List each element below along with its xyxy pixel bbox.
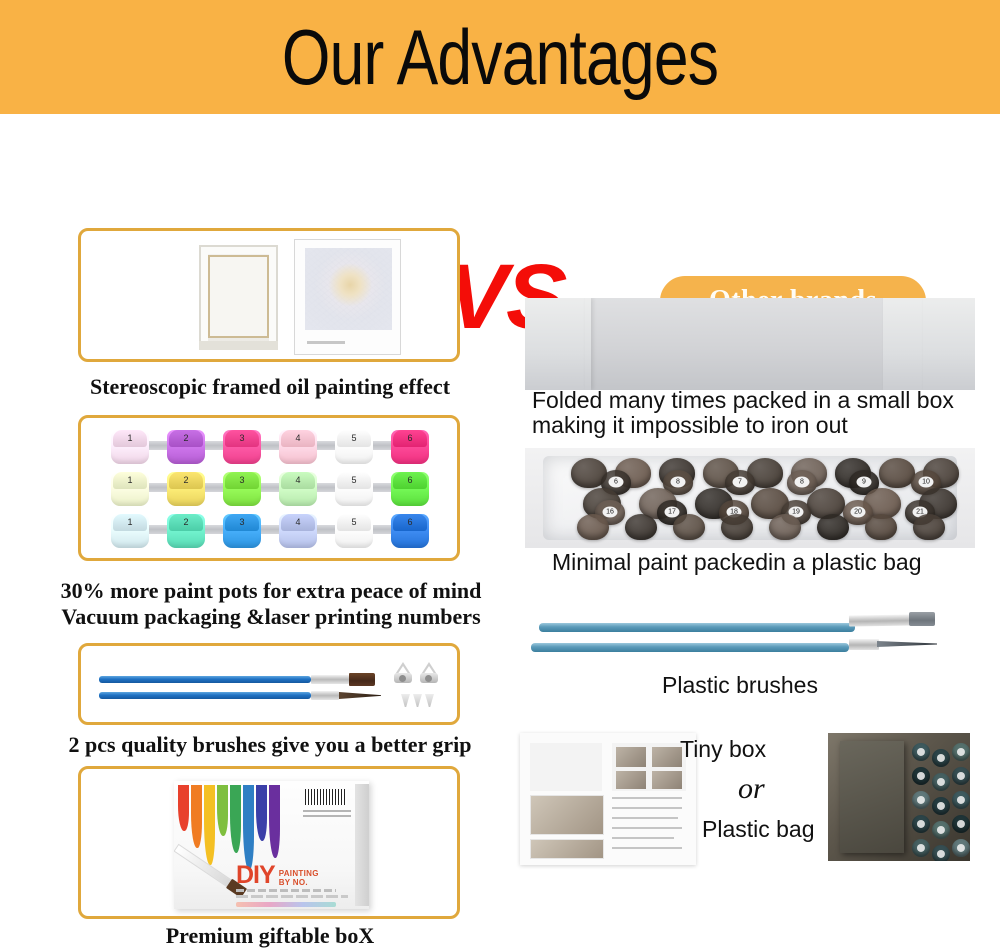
our-brand-caption-2: 30% more paint pots for extra peace of m… [46,578,496,630]
paint-pot: 2 [167,472,205,506]
our-brand-caption-2-line1: 30% more paint pots for extra peace of m… [46,578,496,604]
manual-line [612,797,682,799]
our-brand-brushes-panel [78,643,460,725]
paint-pot: 6 [391,430,429,464]
splash-stripe [230,785,241,853]
bagged-paint-pot-number: 20 [851,507,866,518]
paint-pot-number: 2 [167,515,205,530]
box-brand-text: DIYPAINTINGBY NO. [236,863,319,888]
barcode-icon [305,789,347,805]
manual-thumb [616,771,646,789]
bagged-paint-pot [913,514,945,540]
bagged-paint-pot: 7 [725,470,755,495]
paint-in-plastic-bag-photo: 6878910161718192021 [525,448,975,548]
paint-pot-number: 2 [167,431,205,446]
barcode-text-lines [303,807,351,817]
box-spine [355,784,369,906]
paint-pot-number: 4 [279,431,317,446]
paint-pot-number: 6 [391,473,429,488]
diy-gift-box-image: DIYPAINTINGBY NO. [174,781,369,909]
bagged-paint-pot [952,791,970,809]
bagged-paint-pot [932,845,950,861]
manual-line [612,817,678,819]
manual-line [612,837,674,839]
hook-hole [399,675,406,682]
bagged-paint-pot [932,773,950,791]
bagged-paint-pot [769,514,801,540]
canvas-fold [585,298,591,390]
comparison-header-row: Our brand VS Other brands [0,114,1000,224]
hanger-hook-image [393,662,413,684]
bagged-paint-pot [952,839,970,857]
paint-pot: 3 [223,472,261,506]
canvas-fold [525,298,585,390]
paint-pot: 5 [335,514,373,548]
bagged-paint-pot-number: 8 [795,477,810,488]
paint-pot: 1 [111,472,149,506]
paint-pot-number: 6 [391,431,429,446]
page-title: Our Advantages [100,0,900,114]
paint-pot: 6 [391,472,429,506]
brush-ferrule [311,691,339,700]
brush-ferrule [849,614,911,626]
canvas-artwork [305,248,392,330]
bagged-paint-pot [932,749,950,767]
paint-pot: 2 [167,430,205,464]
other-brands-caption-tiny-box: Tiny box [680,737,766,762]
bagged-paint-pot-number: 7 [733,477,748,488]
paint-pot: 4 [279,472,317,506]
paint-pot: 6 [391,514,429,548]
manual-line [612,807,682,809]
paint-pot: 4 [279,514,317,548]
bagged-paint-pot [932,821,950,839]
hook-hole [425,675,432,682]
paint-pot-number: 2 [167,473,205,488]
our-brand-canvas-panel [78,228,460,362]
our-brand-caption-2-line2: Vacuum packaging &laser printing numbers [46,604,496,630]
bagged-paint-pot [912,791,930,809]
our-brand-gift-box-panel: DIYPAINTINGBY NO. [78,766,460,919]
paint-pot: 5 [335,430,373,464]
our-brand-caption-4: Premium giftable boX [80,923,460,949]
paint-pot-number: 5 [335,431,373,446]
paint-pot-number: 6 [391,515,429,530]
other-brands-caption-3: Plastic brushes [662,673,962,698]
bagged-paint-pot [625,514,657,540]
splash-stripe [191,785,202,848]
plastic-brushes-photo [525,605,975,677]
detail-brush-image [99,692,389,699]
paint-pot-number: 1 [111,431,149,446]
manual-photo-grid [530,795,604,835]
manual-thumb [652,771,682,789]
brush-handle [539,623,855,632]
paint-pot-number: 5 [335,515,373,530]
canvas-fold [923,298,975,390]
paint-pot: 5 [335,472,373,506]
other-brands-caption-1: Folded many times packed in a small box … [532,388,992,438]
brush-handle [531,643,849,652]
bagged-paint-pot [817,514,849,540]
screw-image [425,694,434,707]
brush-ferrule [849,639,879,650]
hanger-hook-image [419,662,439,684]
bagged-paint-pot-number: 6 [609,477,624,488]
splash-stripe [256,785,267,841]
paint-pot-row: 123456 [111,514,433,550]
screw-image [401,694,410,707]
dark-box-card [840,741,904,853]
our-brand-paint-pots-panel: 123456 123456 123456 [78,415,460,561]
paint-pot: 2 [167,514,205,548]
our-brand-caption-3: 2 pcs quality brushes give you a better … [44,732,496,758]
manual-thumb [652,747,682,767]
other-brands-caption-plastic-bag: Plastic bag [702,817,815,842]
box-body-text-line [236,895,348,898]
box-body-text-line [236,889,336,892]
paint-pot-number: 3 [223,473,261,488]
bagged-paint-pot-number: 10 [919,477,934,488]
bagged-paint-pot-number: 17 [665,507,680,518]
manual-thumb [616,747,646,767]
screw-image [413,694,422,707]
bagged-paint-pot [577,514,609,540]
paint-pot: 3 [223,514,261,548]
bagged-paint-pot-number: 8 [671,477,686,488]
manual-line [612,827,682,829]
bagged-paint-pot [912,839,930,857]
splash-stripe [243,785,254,870]
manual-text-block [530,743,602,791]
other-brands-caption-1-line1: Folded many times packed in a small box [532,388,992,413]
paint-pot: 3 [223,430,261,464]
paint-pot-number: 4 [279,473,317,488]
box-brand-main: DIY [236,863,275,888]
brush-handle [99,692,311,699]
bagged-paint-pot [673,514,705,540]
bagged-paint-pot-number: 16 [603,507,618,518]
paint-pot-number: 1 [111,473,149,488]
paint-pot-row: 123456 [111,430,433,466]
splash-stripe [178,785,189,831]
brush-tip [339,692,381,699]
bagged-paint-pot [932,797,950,815]
our-brand-caption-1: Stereoscopic framed oil painting effect [60,374,480,400]
bagged-paint-pot-number: 9 [857,477,872,488]
dark-plastic-bag-photo [828,733,970,861]
brush-tip [877,641,937,647]
paint-pot: 1 [111,514,149,548]
bagged-paint-pot [721,514,753,540]
bagged-paint-pot [912,815,930,833]
bagged-paint-pot [912,767,930,785]
bagged-paint-pot [865,514,897,540]
brush-tip [349,673,375,686]
bagged-paint-pot [879,458,915,488]
other-brands-caption-1-line2: making it impossible to iron out [532,413,992,438]
canvas-fold [883,298,923,390]
brush-ferrule [311,675,349,684]
paint-pot-number: 1 [111,515,149,530]
brush-handle [99,676,311,683]
folded-canvas-photo [525,298,975,390]
stretched-frame-back-image [199,245,278,350]
bagged-paint-pot [952,743,970,761]
other-brands-caption-2: Minimal paint packedin a plastic bag [552,550,972,575]
splash-stripe [269,785,280,858]
canvas-caption-mark [307,341,345,344]
paint-pot-number: 4 [279,515,317,530]
box-color-bar [236,902,336,907]
bagged-paint-pot [952,767,970,785]
printed-canvas-sheet-image [294,239,401,355]
instruction-manual-photo [520,733,696,865]
splash-stripe [204,785,215,865]
box-brand-sub: PAINTINGBY NO. [279,869,319,887]
other-brands-caption-or: or [738,776,765,801]
paint-pot-number: 3 [223,515,261,530]
plastic-bag: 6878910161718192021 [543,456,957,540]
paint-pot-number: 3 [223,431,261,446]
bagged-paint-pot [912,743,930,761]
manual-line [612,847,682,849]
paint-pot-row: 123456 [111,472,433,508]
bagged-paint-pot [952,815,970,833]
splash-stripe [217,785,228,836]
paint-pot-number: 5 [335,473,373,488]
flat-brush-image [99,676,389,683]
paint-pot: 1 [111,430,149,464]
brush-tip [909,612,935,626]
paint-pot: 4 [279,430,317,464]
manual-photo-strip [530,839,604,859]
